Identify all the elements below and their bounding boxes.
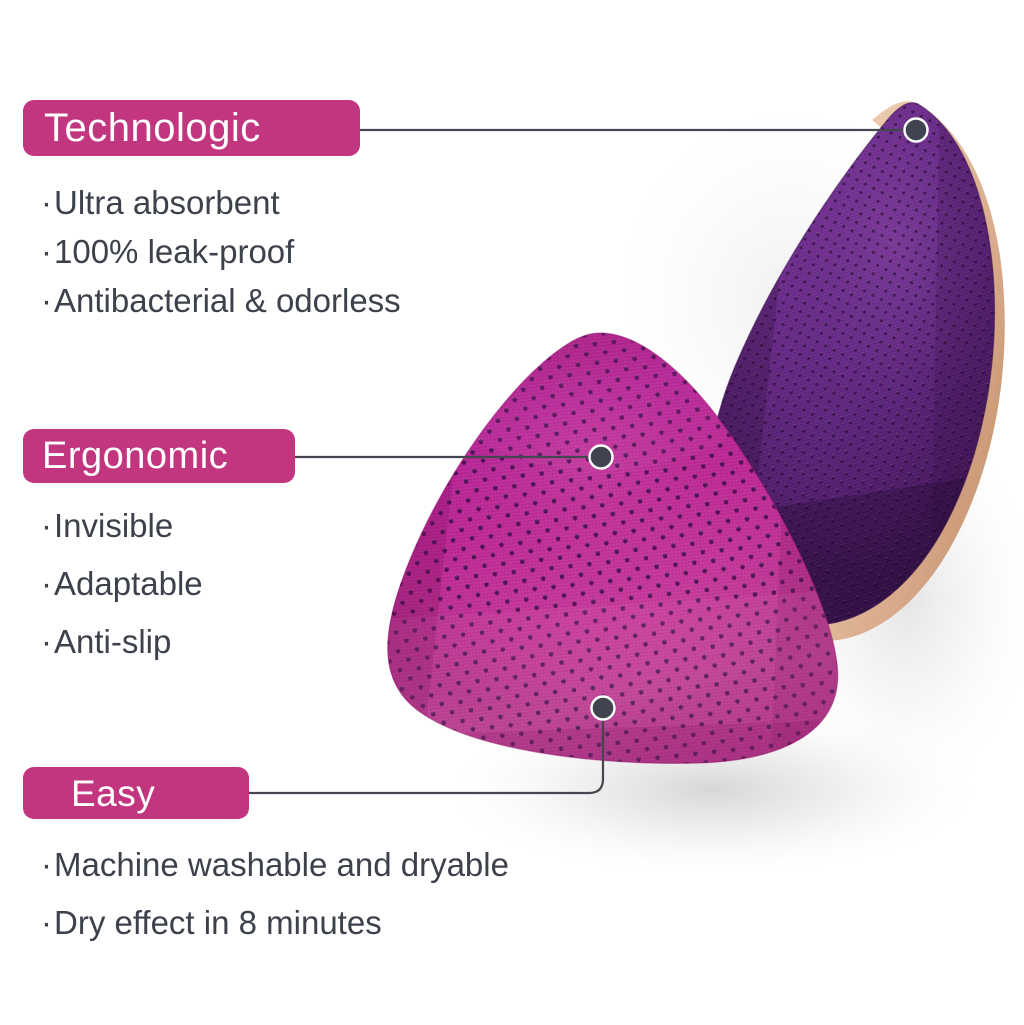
- feature-list-ergonomic: ·Invisible ·Adaptable ·Anti-slip: [41, 497, 203, 671]
- bullet-dot-icon: ·: [41, 894, 52, 952]
- list-item: ·Ultra absorbent: [41, 178, 401, 227]
- list-item-label: Ultra absorbent: [54, 184, 280, 221]
- list-item-label: Antibacterial & odorless: [54, 282, 401, 319]
- list-item-label: Dry effect in 8 minutes: [54, 904, 382, 941]
- list-item: ·Anti-slip: [41, 613, 203, 671]
- list-item: ·Invisible: [41, 497, 203, 555]
- list-item: ·100% leak-proof: [41, 227, 401, 276]
- list-item: ·Machine washable and dryable: [41, 836, 509, 894]
- bullet-dot-icon: ·: [41, 555, 52, 613]
- list-item: ·Antibacterial & odorless: [41, 276, 401, 325]
- list-item-label: Machine washable and dryable: [54, 846, 509, 883]
- badge-ergonomic-label: Ergonomic: [42, 437, 228, 475]
- list-item-label: 100% leak-proof: [54, 233, 294, 270]
- bullet-dot-icon: ·: [41, 227, 52, 276]
- bullet-dot-icon: ·: [41, 497, 52, 555]
- badge-technologic[interactable]: Technologic: [23, 100, 360, 156]
- bullet-dot-icon: ·: [41, 836, 52, 894]
- badge-easy[interactable]: Easy: [23, 767, 249, 819]
- feature-list-technologic: ·Ultra absorbent ·100% leak-proof ·Antib…: [41, 178, 401, 325]
- infographic-canvas: Technologic ·Ultra absorbent ·100% leak-…: [0, 0, 1024, 1025]
- list-item-label: Invisible: [54, 507, 173, 544]
- list-item-label: Anti-slip: [54, 623, 171, 660]
- bullet-dot-icon: ·: [41, 178, 52, 227]
- feature-list-easy: ·Machine washable and dryable ·Dry effec…: [41, 836, 509, 952]
- list-item: ·Dry effect in 8 minutes: [41, 894, 509, 952]
- bullet-dot-icon: ·: [41, 276, 52, 325]
- badge-ergonomic[interactable]: Ergonomic: [23, 429, 295, 483]
- badge-technologic-label: Technologic: [44, 108, 261, 148]
- list-item-label: Adaptable: [54, 565, 203, 602]
- bullet-dot-icon: ·: [41, 613, 52, 671]
- badge-easy-label: Easy: [71, 775, 155, 812]
- list-item: ·Adaptable: [41, 555, 203, 613]
